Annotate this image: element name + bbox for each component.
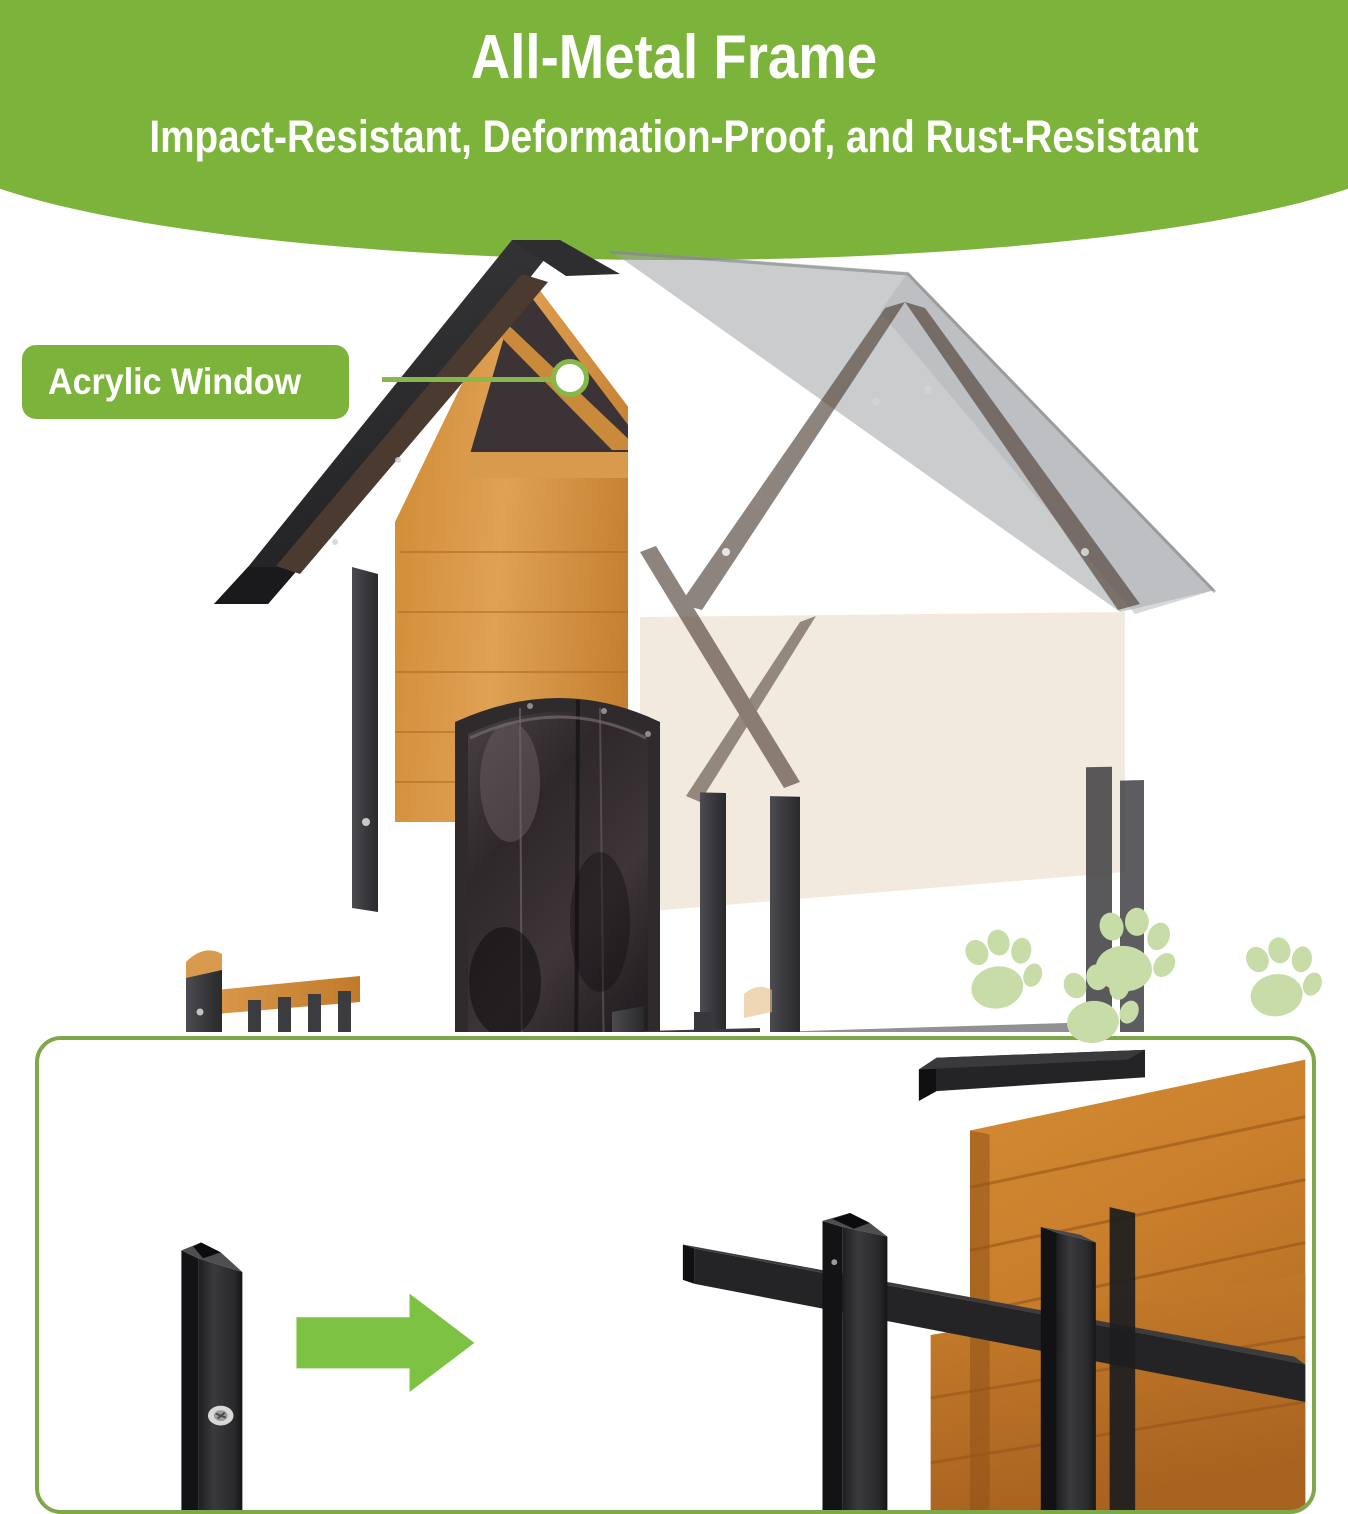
- paw-print-icon: [1082, 895, 1189, 1006]
- callout-target-dot: [551, 359, 589, 397]
- page-subtitle: Impact-Resistant, Deformation-Proof, and…: [94, 112, 1253, 162]
- paw-print-icon: [950, 913, 1057, 1024]
- paw-print-icon: [1232, 922, 1336, 1030]
- callout-connector-line: [382, 377, 572, 382]
- callout-acrylic-window: Acrylic Window: [22, 345, 349, 419]
- detail-panel: [35, 1036, 1316, 1514]
- page-title: All-Metal Frame: [81, 26, 1267, 90]
- callout-label: Acrylic Window: [48, 361, 301, 403]
